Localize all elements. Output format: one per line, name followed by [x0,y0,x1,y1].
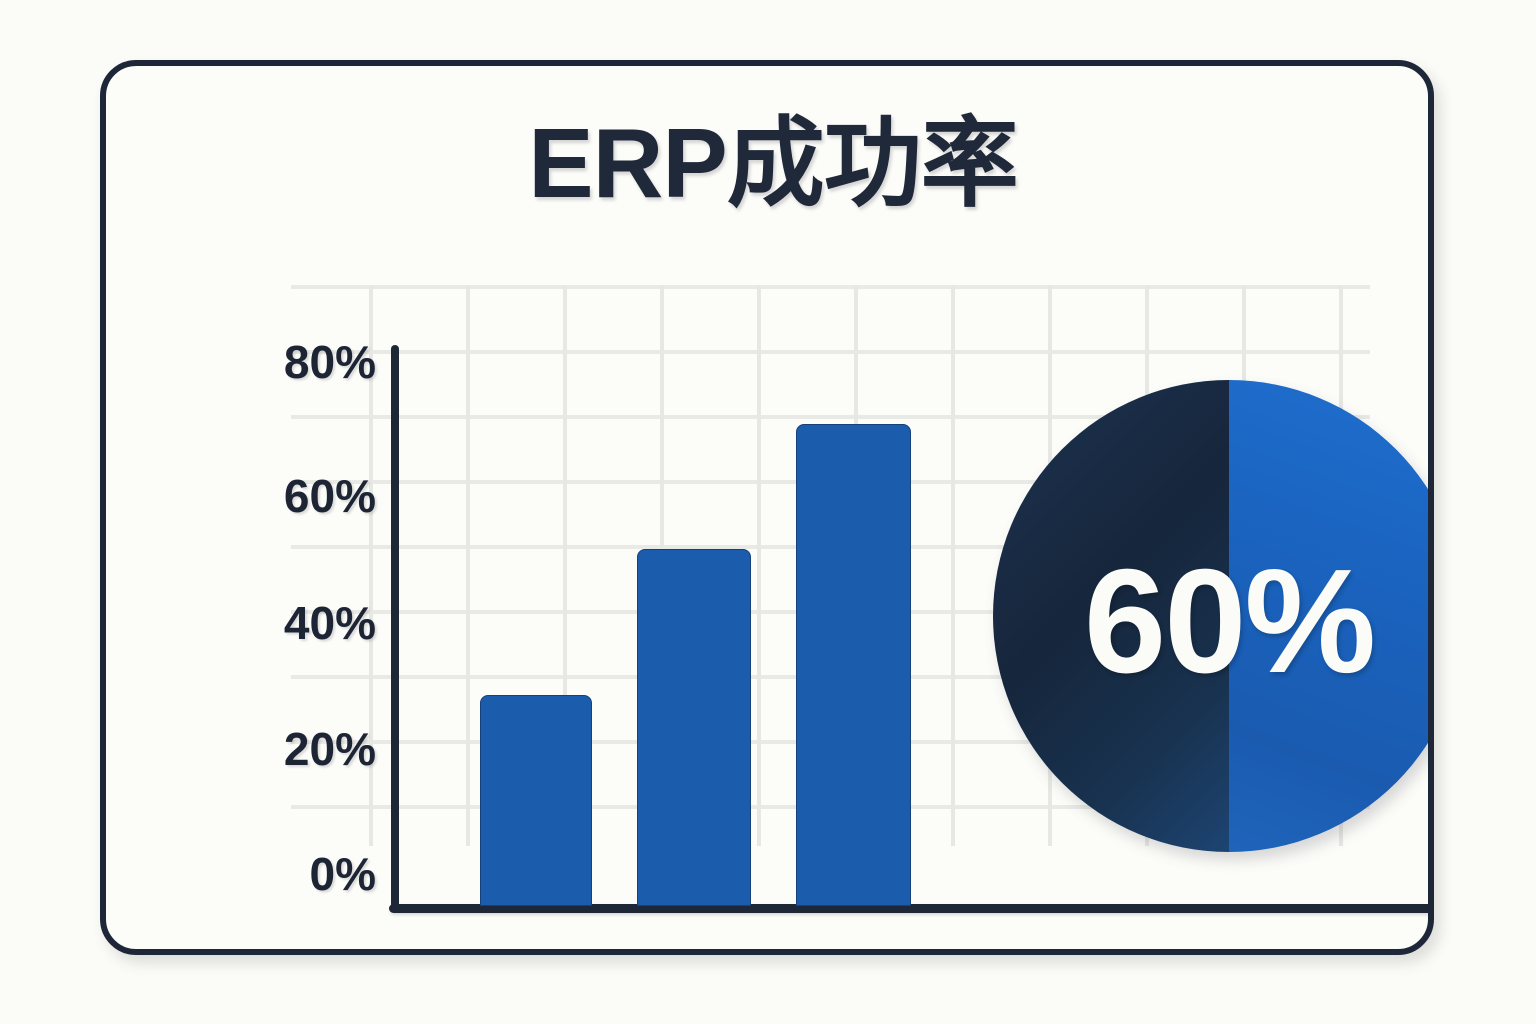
chart-card: ERP成功率 80%60%40%20%0% 60% [100,60,1434,955]
bar-1 [480,695,592,906]
bar-3 [796,424,911,906]
pie-chart: 60% [993,380,1434,852]
chart-canvas: ERP成功率 80%60%40%20%0% 60% [0,0,1536,1024]
bar-2 [637,549,751,906]
pie-center-label: 60% [993,386,1434,852]
